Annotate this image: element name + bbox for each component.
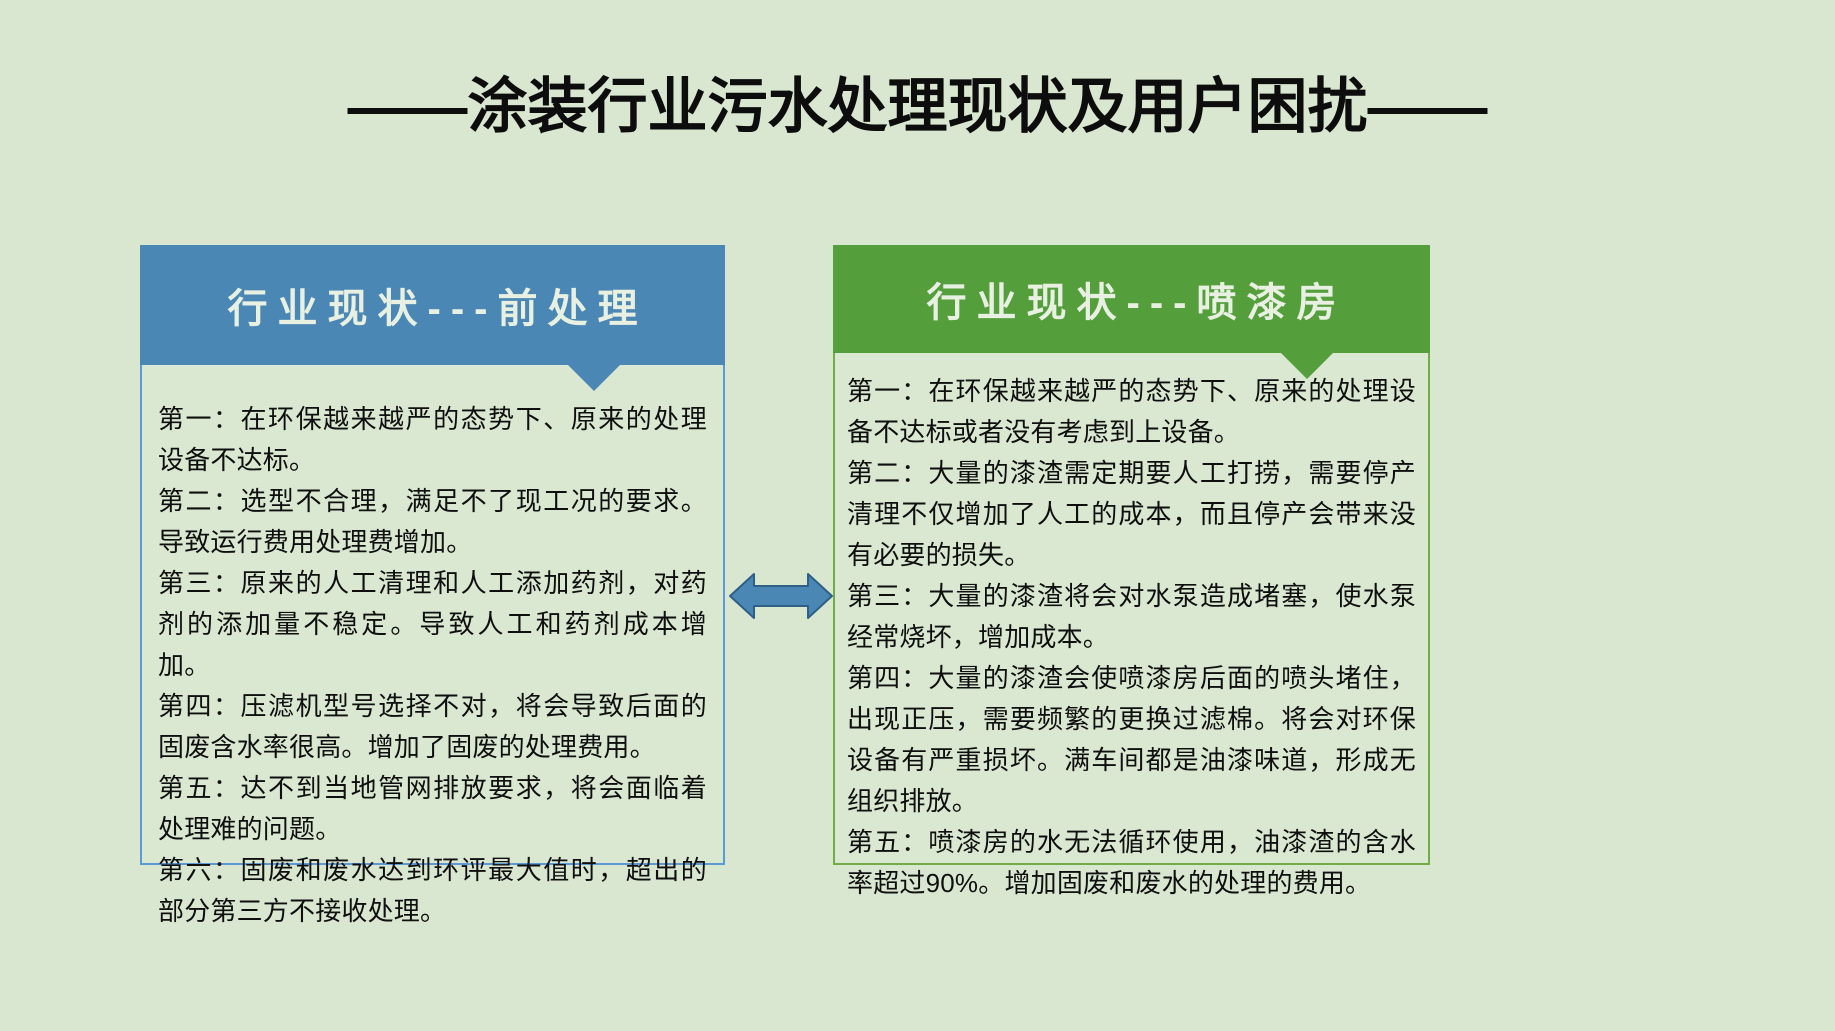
list-item: 第二：大量的漆渣需定期要人工打捞，需要停产清理不仅增加了人工的成本，而且停产会带… xyxy=(847,453,1416,576)
panel-spray-booth-header-label: 行业现状---喷漆房 xyxy=(917,270,1347,328)
panel-pretreatment-header: 行业现状---前处理 xyxy=(140,245,725,365)
list-item: 第三：大量的漆渣将会对水泵造成堵塞，使水泵经常烧坏，增加成本。 xyxy=(847,576,1416,658)
list-item: 第二：选型不合理，满足不了现工况的要求。导致运行费用处理费增加。 xyxy=(158,481,707,563)
list-item: 第一：在环保越来越严的态势下、原来的处理设备不达标。 xyxy=(158,399,707,481)
panel-spray-booth: 行业现状---喷漆房 第一：在环保越来越严的态势下、原来的处理设备不达标或者没有… xyxy=(833,245,1430,865)
list-item: 第四：压滤机型号选择不对，将会导致后面的固废含水率很高。增加了固废的处理费用。 xyxy=(158,686,707,768)
panel-pretreatment-header-label: 行业现状---前处理 xyxy=(218,276,648,334)
panel-pretreatment-body: 第一：在环保越来越严的态势下、原来的处理设备不达标。 第二：选型不合理，满足不了… xyxy=(140,365,725,865)
double-headed-arrow-icon xyxy=(728,565,834,627)
callout-triangle-icon xyxy=(568,365,620,391)
list-item: 第六：固废和废水达到环评最大值时，超出的部分第三方不接收处理。 xyxy=(158,850,707,932)
panel-spray-booth-body: 第一：在环保越来越严的态势下、原来的处理设备不达标或者没有考虑到上设备。 第二：… xyxy=(833,353,1430,865)
list-item: 第五：喷漆房的水无法循环使用，油漆渣的含水率超过90%。增加固废和废水的处理的费… xyxy=(847,822,1416,904)
list-item: 第一：在环保越来越严的态势下、原来的处理设备不达标或者没有考虑到上设备。 xyxy=(847,371,1416,453)
page-title: ——涂装行业污水处理现状及用户困扰—— xyxy=(0,72,1835,141)
panel-pretreatment: 行业现状---前处理 第一：在环保越来越严的态势下、原来的处理设备不达标。 第二… xyxy=(140,245,725,865)
page-title-text: ——涂装行业污水处理现状及用户困扰—— xyxy=(348,72,1488,141)
panel-spray-booth-header: 行业现状---喷漆房 xyxy=(833,245,1430,353)
list-item: 第五：达不到当地管网排放要求，将会面临着处理难的问题。 xyxy=(158,768,707,850)
callout-triangle-icon xyxy=(1281,353,1333,379)
list-item: 第四：大量的漆渣会使喷漆房后面的喷头堵住，出现正压，需要频繁的更换过滤棉。将会对… xyxy=(847,658,1416,822)
list-item: 第三：原来的人工清理和人工添加药剂，对药剂的添加量不稳定。导致人工和药剂成本增加… xyxy=(158,563,707,686)
